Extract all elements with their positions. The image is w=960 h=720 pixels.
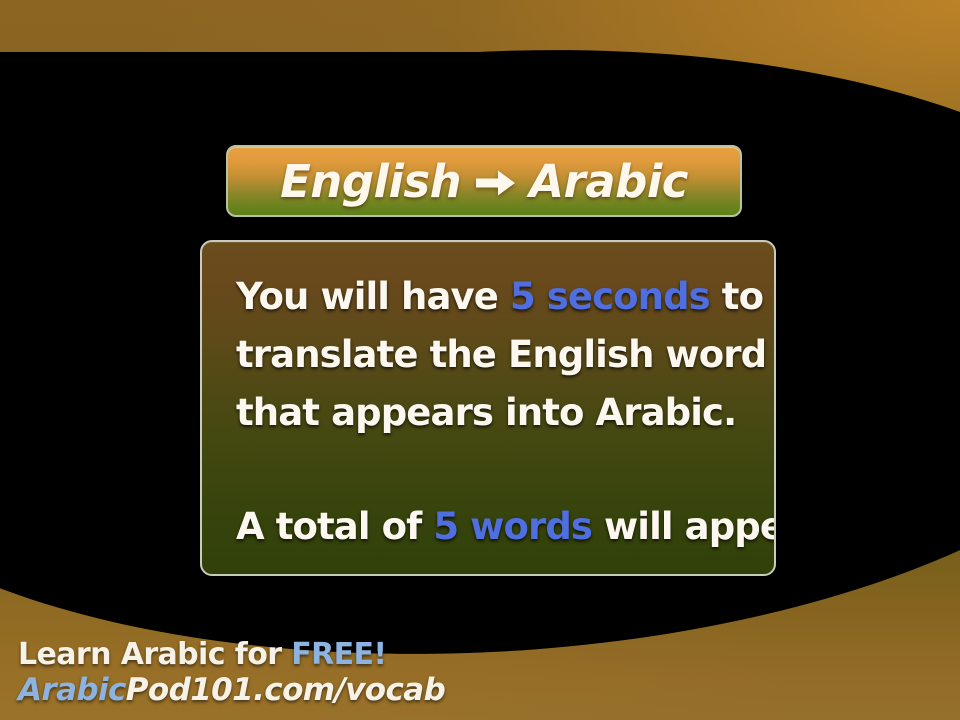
language-direction-banner: English Arabic [226, 145, 742, 217]
footer-branding: Learn Arabic for FREE! ArabicPod101.com/… [18, 638, 538, 708]
brand-url[interactable]: ArabicPod101.com/vocab [18, 672, 538, 708]
target-language-label: Arabic [529, 159, 688, 204]
instruction-line-1-prefix: You will have [236, 275, 510, 318]
instruction-line-4-prefix: A total of [236, 505, 433, 548]
promo-line: Learn Arabic for FREE! [18, 638, 538, 672]
instructions-panel: You will have 5 seconds to translate the… [200, 240, 776, 576]
instruction-line-2: translate the English word [236, 326, 744, 384]
brand-url-prefix: Arabic [18, 672, 126, 708]
brand-url-suffix: Pod101.com/vocab [126, 672, 445, 708]
word-count-highlight: 5 words [433, 505, 592, 548]
seconds-highlight: 5 seconds [510, 275, 710, 318]
instruction-line-4-suffix: will appear. [592, 505, 776, 548]
instruction-line-4: A total of 5 words will appear. [236, 498, 744, 556]
promo-text: Learn Arabic for [18, 637, 291, 672]
instruction-spacer [236, 442, 744, 498]
free-highlight: FREE! [291, 637, 386, 672]
slide-canvas: English Arabic You will have 5 seconds t… [0, 0, 960, 720]
instruction-line-1: You will have 5 seconds to [236, 268, 744, 326]
instruction-line-3: that appears into Arabic. [236, 384, 744, 442]
right-arrow-icon [476, 169, 516, 197]
source-language-label: English [280, 159, 461, 204]
instruction-line-1-suffix: to [710, 275, 763, 318]
